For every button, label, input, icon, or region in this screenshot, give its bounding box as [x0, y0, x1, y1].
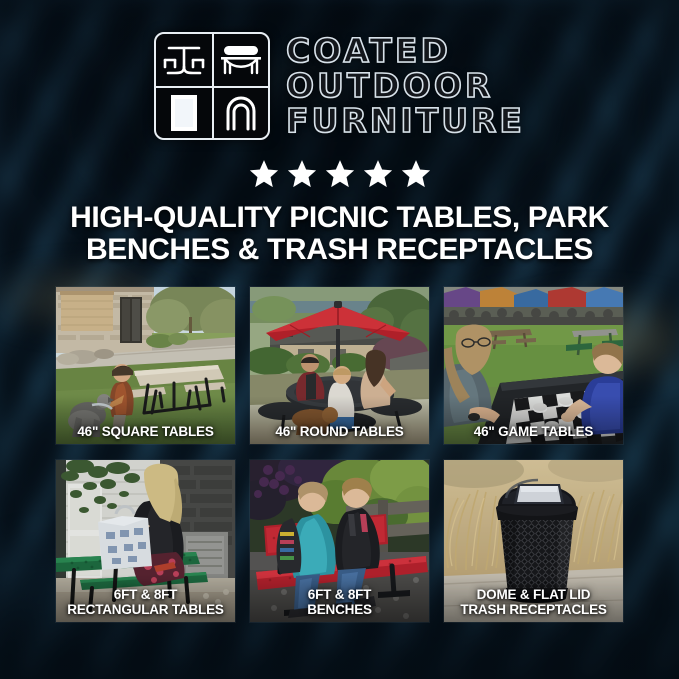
product-card[interactable]: 46" GAME TABLES [444, 287, 623, 444]
picnic-table-icon [156, 34, 212, 86]
product-caption: 6FT & 8FT BENCHES [250, 588, 429, 617]
caption-line-2: BENCHES [250, 603, 429, 617]
advertisement-banner: COATED OUTDOOR FURNITURE HIGH-QUALITY PI… [0, 0, 679, 679]
caption-line-2: RECTANGULAR TABLES [56, 603, 235, 617]
logo-icon-grid [154, 32, 270, 140]
headline-line-2: BENCHES & TRASH RECEPTACLES [32, 234, 647, 266]
star-icon [362, 158, 394, 190]
product-card[interactable]: 46" SQUARE TABLES [56, 287, 235, 444]
caption-line-2: TRASH RECEPTACLES [444, 603, 623, 617]
caption-line-1: 46" ROUND TABLES [250, 425, 429, 439]
product-card[interactable]: 6FT & 8FT RECTANGULAR TABLES [56, 460, 235, 622]
logo-wordmark: COATED OUTDOOR FURNITURE [286, 34, 525, 138]
caption-line-1: 6FT & 8FT [250, 588, 429, 602]
caption-line-1: DOME & FLAT LID [444, 588, 623, 602]
star-icon [286, 158, 318, 190]
brand-logo: COATED OUTDOOR FURNITURE [0, 26, 679, 146]
product-card[interactable]: DOME & FLAT LID TRASH RECEPTACLES [444, 460, 623, 622]
logo-line-1: COATED [286, 34, 525, 68]
caption-line-1: 6FT & 8FT [56, 588, 235, 602]
caption-line-1: 46" SQUARE TABLES [56, 425, 235, 439]
product-card[interactable]: 46" ROUND TABLES [250, 287, 429, 444]
logo-line-3: FURNITURE [286, 104, 525, 138]
headline: HIGH-QUALITY PICNIC TABLES, PARK BENCHES… [32, 202, 647, 267]
logo-line-2: OUTDOOR [286, 69, 525, 103]
product-caption: 6FT & 8FT RECTANGULAR TABLES [56, 588, 235, 617]
headline-line-1: HIGH-QUALITY PICNIC TABLES, PARK [32, 202, 647, 234]
caption-line-1: 46" GAME TABLES [444, 425, 623, 439]
product-caption: 46" GAME TABLES [444, 425, 623, 439]
star-icon [400, 158, 432, 190]
star-icon [324, 158, 356, 190]
bike-rack-arch-icon [212, 86, 268, 138]
star-rating [0, 158, 679, 190]
park-bench-icon [212, 34, 268, 86]
product-caption: 46" SQUARE TABLES [56, 425, 235, 439]
star-icon [248, 158, 280, 190]
product-grid: 46" SQUARE TABLES [56, 287, 623, 622]
product-caption: DOME & FLAT LID TRASH RECEPTACLES [444, 588, 623, 617]
product-caption: 46" ROUND TABLES [250, 425, 429, 439]
trash-receptacle-icon [156, 86, 212, 138]
product-card[interactable]: 6FT & 8FT BENCHES [250, 460, 429, 622]
